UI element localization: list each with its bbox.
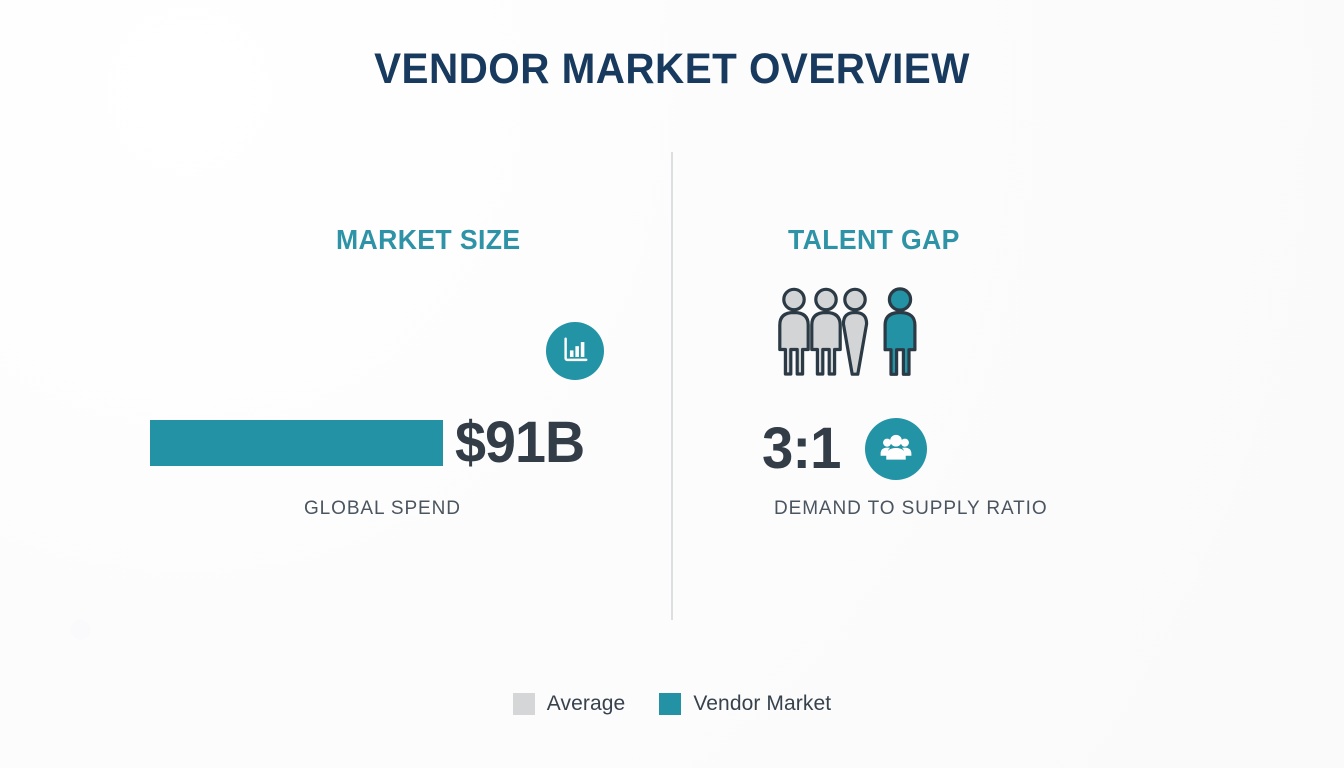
market-size-badge bbox=[546, 322, 604, 380]
person-figure-teal bbox=[885, 289, 915, 374]
panel-heading-talent-gap: TALENT GAP bbox=[788, 224, 960, 256]
people-ratio-icon bbox=[776, 284, 946, 380]
global-spend-bar-track bbox=[150, 420, 443, 466]
talent-gap-badge bbox=[865, 418, 927, 480]
person-figure-grey-2 bbox=[812, 289, 840, 374]
global-spend-caption: GLOBAL SPEND bbox=[304, 498, 461, 520]
person-figure-grey-3 bbox=[843, 289, 866, 374]
talent-gap-ratio-row: 3:1 bbox=[762, 414, 927, 484]
legend-swatch-vendor-market bbox=[659, 693, 681, 715]
panel-market-size: MARKET SIZE $91B GLOBAL SPEND bbox=[110, 150, 650, 570]
global-spend-bar-fill bbox=[150, 420, 443, 466]
person-figure-grey-1 bbox=[780, 289, 808, 374]
page-title: VENDOR MARKET OVERVIEW bbox=[40, 42, 1303, 96]
bar-chart-icon bbox=[560, 334, 590, 369]
talent-gap-caption: DEMAND TO SUPPLY RATIO bbox=[774, 498, 1048, 520]
slide-canvas: VENDOR MARKET OVERVIEW MARKET SIZE $91B bbox=[0, 0, 1344, 768]
legend-label-vendor-market: Vendor Market bbox=[693, 692, 831, 716]
legend-item-average: Average bbox=[513, 692, 626, 716]
global-spend-bar-row: $91B bbox=[150, 412, 650, 480]
legend-swatch-average bbox=[513, 693, 535, 715]
panel-divider bbox=[671, 152, 673, 620]
talent-gap-value: 3:1 bbox=[762, 418, 840, 480]
people-group-icon bbox=[879, 430, 913, 469]
legend-label-average: Average bbox=[547, 692, 626, 716]
global-spend-value: $91B bbox=[455, 412, 584, 474]
panel-talent-gap: TALENT GAP bbox=[700, 150, 1260, 570]
panel-heading-market-size: MARKET SIZE bbox=[336, 224, 520, 256]
chart-legend: Average Vendor Market bbox=[0, 692, 1344, 716]
legend-item-vendor-market: Vendor Market bbox=[659, 692, 831, 716]
